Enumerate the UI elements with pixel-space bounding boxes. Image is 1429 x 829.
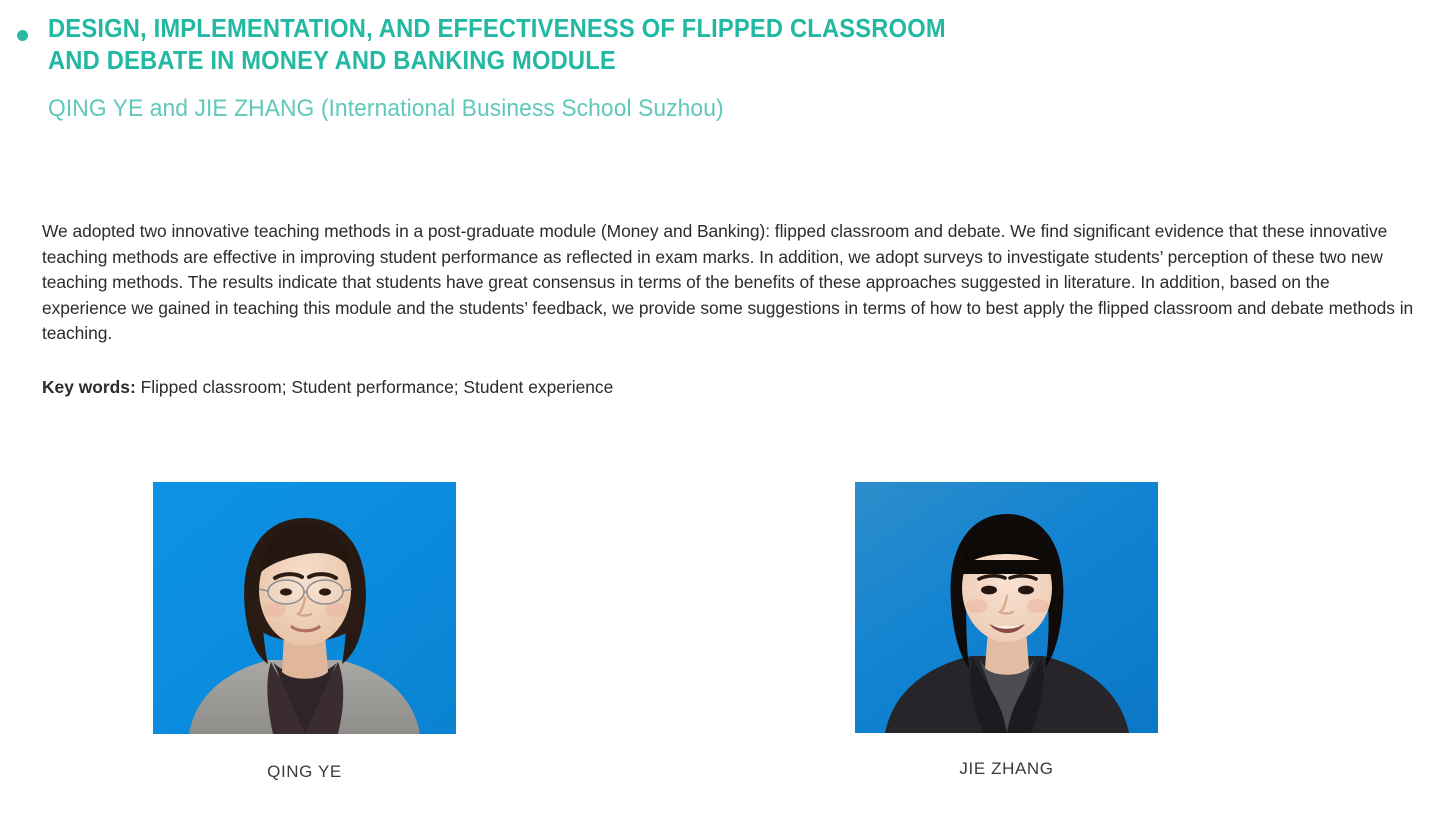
keywords-label: Key words:	[42, 377, 136, 397]
author-figure-jie-zhang: JIE ZHANG	[855, 482, 1158, 733]
portrait-photo-jie-zhang	[855, 482, 1158, 733]
figure-caption-jie-zhang: JIE ZHANG	[855, 759, 1158, 779]
portrait-photo-qing-ye	[153, 482, 456, 734]
page-title: DESIGN, IMPLEMENTATION, AND EFFECTIVENES…	[48, 13, 1108, 77]
portrait-artwork-qing-ye	[153, 482, 456, 734]
page-title-line-1: DESIGN, IMPLEMENTATION, AND EFFECTIVENES…	[48, 13, 1034, 45]
keywords-line: Key words: Flipped classroom; Student pe…	[42, 375, 1342, 401]
abstract-text: We adopted two innovative teaching metho…	[42, 219, 1414, 347]
portrait-artwork-jie-zhang	[855, 482, 1158, 733]
author-figure-qing-ye: QING YE	[153, 482, 456, 734]
bullet-dot-icon	[17, 30, 28, 41]
page-title-line-2: AND DEBATE IN MONEY AND BANKING MODULE	[48, 45, 1034, 77]
figure-caption-qing-ye: QING YE	[153, 762, 456, 782]
authors-affiliation: QING YE and JIE ZHANG (International Bus…	[48, 93, 724, 125]
keywords-value: Flipped classroom; Student performance; …	[136, 377, 614, 397]
